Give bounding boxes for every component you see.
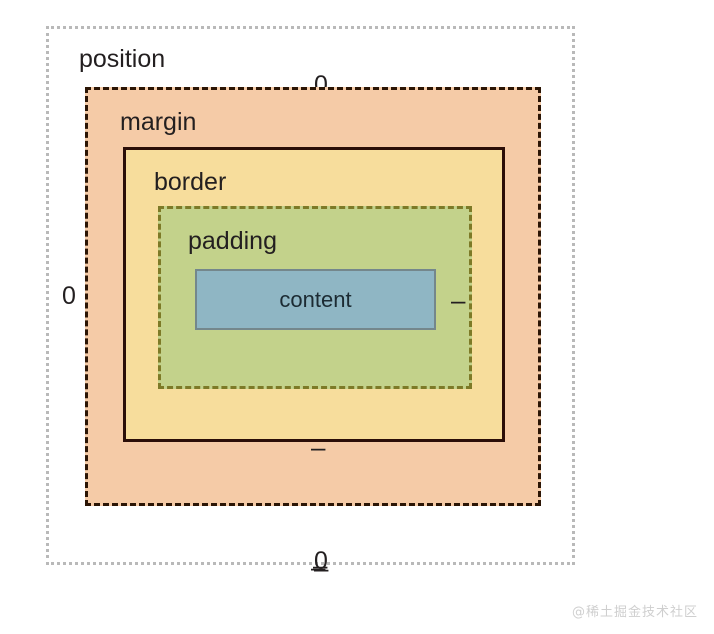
position-label: position [79,47,165,72]
box-model-diagram-page: { "diagram": { "title": "CSS Box Model",… [0,0,714,634]
position-box: position 0 0 0 0 margin – – – – border –… [46,26,575,565]
margin-label: margin [120,110,196,135]
content-box: content [195,269,436,330]
content-label: content [197,271,434,328]
padding-bottom-marker: – [311,554,325,580]
border-label: border [154,170,226,195]
padding-label: padding [188,229,277,254]
margin-box: margin – – – – border – – – – padding – … [85,87,541,506]
padding-top-marker: – [311,434,325,460]
border-box: border – – – – padding – – – – content [123,147,505,442]
position-left-marker: 0 [62,284,76,309]
padding-box: padding – – – – content [158,206,472,389]
watermark: @稀土掘金技术社区 [572,601,698,620]
padding-right-marker: – [451,287,465,313]
